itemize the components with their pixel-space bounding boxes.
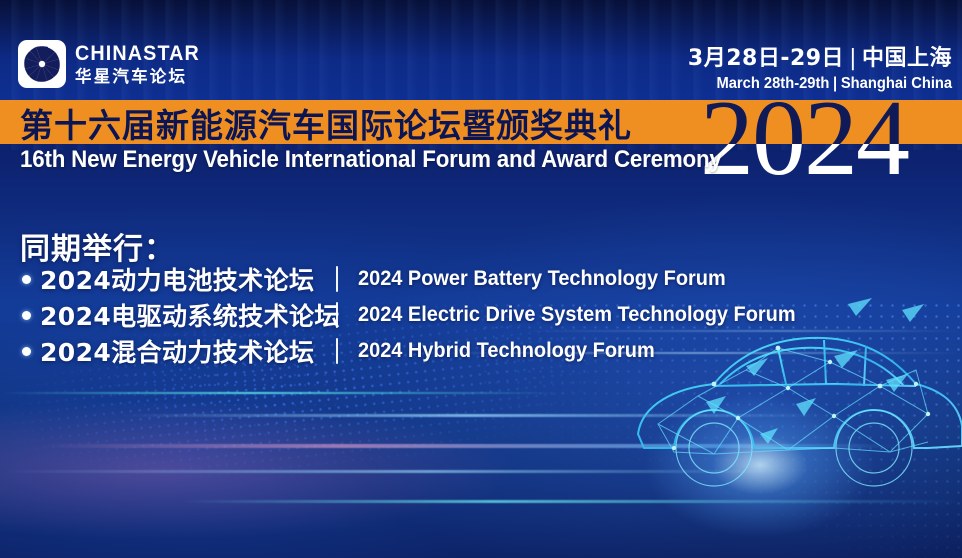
forum-name-cn: 2024动力电池技术论坛 bbox=[40, 261, 336, 297]
date-location-en: March 28th-29th|Shanghai China bbox=[716, 75, 952, 93]
concurrent-forum-list: 2024动力电池技术论坛 2024 Power Battery Technolo… bbox=[22, 264, 819, 366]
date-location-cn: 3月28日-29日|中国上海 bbox=[688, 40, 952, 72]
chinastar-burst-icon bbox=[18, 40, 66, 88]
event-date-location: 3月28日-29日|中国上海 March 28th-29th|Shanghai … bbox=[688, 40, 952, 93]
bullet-icon bbox=[22, 275, 31, 284]
bullet-icon bbox=[22, 311, 31, 320]
light-streak bbox=[40, 444, 900, 448]
forum-name-en: 2024 Power Battery Technology Forum bbox=[358, 267, 726, 291]
page-title-en: 16th New Energy Vehicle International Fo… bbox=[20, 146, 722, 174]
logo-name-en: CHINASTAR bbox=[75, 43, 200, 64]
light-streak bbox=[0, 470, 780, 473]
date-cn-text: 3月28日-29日 bbox=[688, 46, 844, 71]
forum-separator-bar bbox=[336, 338, 338, 364]
forum-name-cn: 2024电驱动系统技术论坛 bbox=[40, 297, 336, 333]
logo-name-cn: 华星汽车论坛 bbox=[75, 69, 208, 86]
banner-header: CHINASTAR 华星汽车论坛 3月28日-29日|中国上海 March 28… bbox=[0, 0, 962, 100]
light-streak bbox=[180, 500, 962, 503]
location-cn-text: 中国上海 bbox=[862, 46, 952, 71]
forum-separator-bar bbox=[336, 302, 338, 328]
date-en-text: March 28th-29th bbox=[716, 75, 829, 92]
date-separator-en: | bbox=[829, 75, 840, 92]
light-streak bbox=[120, 414, 820, 417]
forum-name-cn: 2024混合动力技术论坛 bbox=[40, 333, 336, 369]
brand-logo[interactable]: CHINASTAR 华星汽车论坛 bbox=[18, 40, 208, 88]
forum-name-en: 2024 Hybrid Technology Forum bbox=[358, 339, 655, 363]
date-separator-cn: | bbox=[844, 46, 862, 71]
list-item[interactable]: 2024动力电池技术论坛 2024 Power Battery Technolo… bbox=[22, 264, 819, 294]
list-item[interactable]: 2024混合动力技术论坛 2024 Hybrid Technology Foru… bbox=[22, 336, 819, 366]
light-streak bbox=[0, 392, 560, 394]
conference-banner: CHINASTAR 华星汽车论坛 3月28日-29日|中国上海 March 28… bbox=[0, 0, 962, 558]
list-item[interactable]: 2024电驱动系统技术论坛 2024 Electric Drive System… bbox=[22, 300, 819, 330]
location-en-text: Shanghai China bbox=[841, 75, 952, 92]
forum-name-en: 2024 Electric Drive System Technology Fo… bbox=[358, 303, 796, 327]
forum-separator-bar bbox=[336, 266, 338, 292]
page-title-cn: 第十六届新能源汽车国际论坛暨颁奖典礼 bbox=[20, 101, 632, 144]
bullet-icon bbox=[22, 347, 31, 356]
